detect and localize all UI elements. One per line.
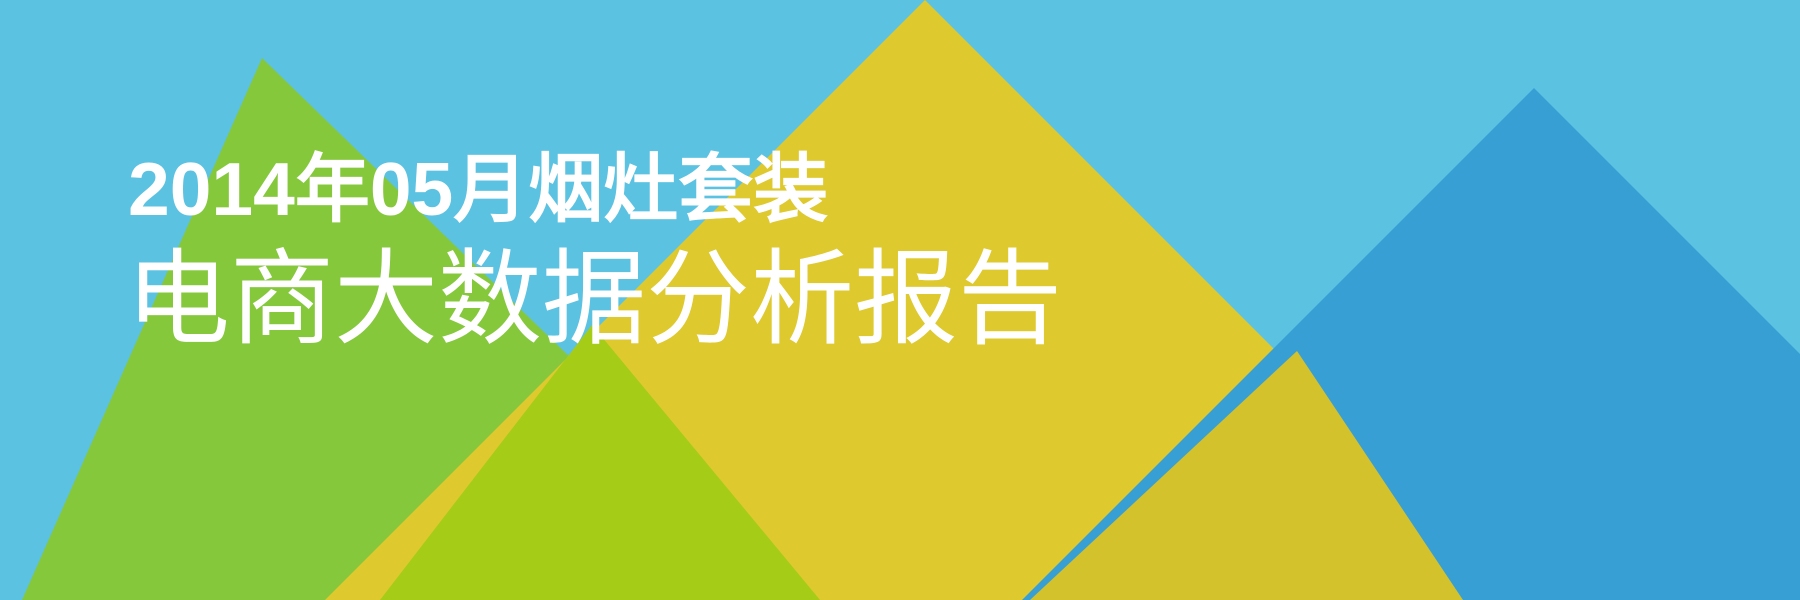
- decorative-triangle-background: [0, 0, 1800, 600]
- report-cover-banner: 2014年05月烟灶套装 电商大数据分析报告: [0, 0, 1800, 600]
